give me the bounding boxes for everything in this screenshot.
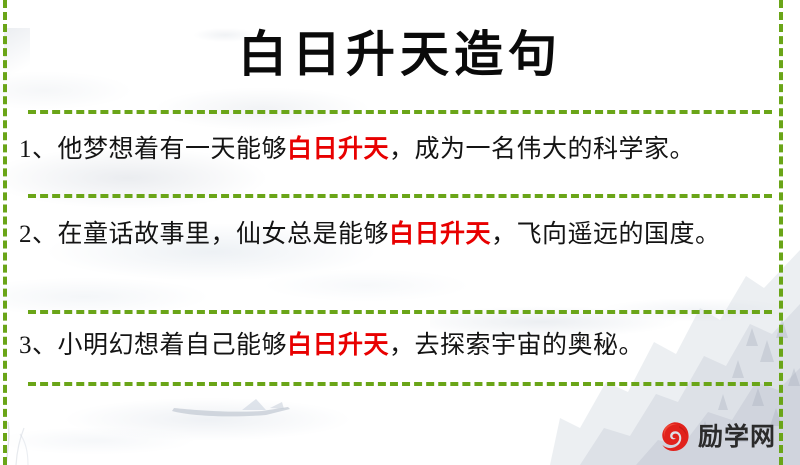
sentence-number-1: 1、	[19, 136, 58, 163]
sentence-text-before-2: 在童话故事里，仙女总是能够	[58, 221, 390, 248]
keyword-highlight-2: 白日升天	[389, 221, 491, 248]
red-swirl-flame-icon	[657, 420, 691, 454]
separator-below-sentence-3	[28, 382, 772, 386]
sentence-item-3: 3、小明幻想着自己能够白日升天，去探索宇宙的奥秘。	[19, 326, 771, 366]
keyword-highlight-1: 白日升天	[287, 136, 389, 163]
page-border-right-dashed	[779, 0, 783, 465]
sentence-number-2: 2、	[19, 221, 58, 248]
sentence-text-after-1: ，成为一名伟大的科学家。	[389, 136, 695, 163]
sentence-number-3: 3、	[19, 332, 58, 359]
watermark-brand-text: 励学网	[698, 425, 776, 450]
sentence-item-1: 1、他梦想着有一天能够白日升天，成为一名伟大的科学家。	[19, 130, 771, 170]
poem-sentence-page: 白日升天造句 1、他梦想着有一天能够白日升天，成为一名伟大的科学家。 2、在童话…	[0, 0, 800, 465]
page-border-left-dashed	[3, 0, 7, 465]
separator-above-sentence-2	[28, 194, 772, 198]
keyword-highlight-3: 白日升天	[287, 332, 389, 359]
watermark-logo: 励学网	[657, 417, 776, 457]
page-title: 白日升天造句	[0, 26, 800, 84]
sentence-text-before-3: 小明幻想着自己能够	[58, 332, 288, 359]
sentence-text-before-1: 他梦想着有一天能够	[58, 136, 288, 163]
separator-above-sentence-1	[28, 110, 772, 114]
separator-above-sentence-3	[28, 310, 772, 314]
page-content: 白日升天造句 1、他梦想着有一天能够白日升天，成为一名伟大的科学家。 2、在童话…	[0, 0, 800, 465]
sentence-text-after-3: ，去探索宇宙的奥秘。	[389, 332, 644, 359]
sentence-text-after-2: ，飞向遥远的国度。	[491, 221, 721, 248]
sentence-item-2: 2、在童话故事里，仙女总是能够白日升天，飞向遥远的国度。	[19, 215, 771, 255]
